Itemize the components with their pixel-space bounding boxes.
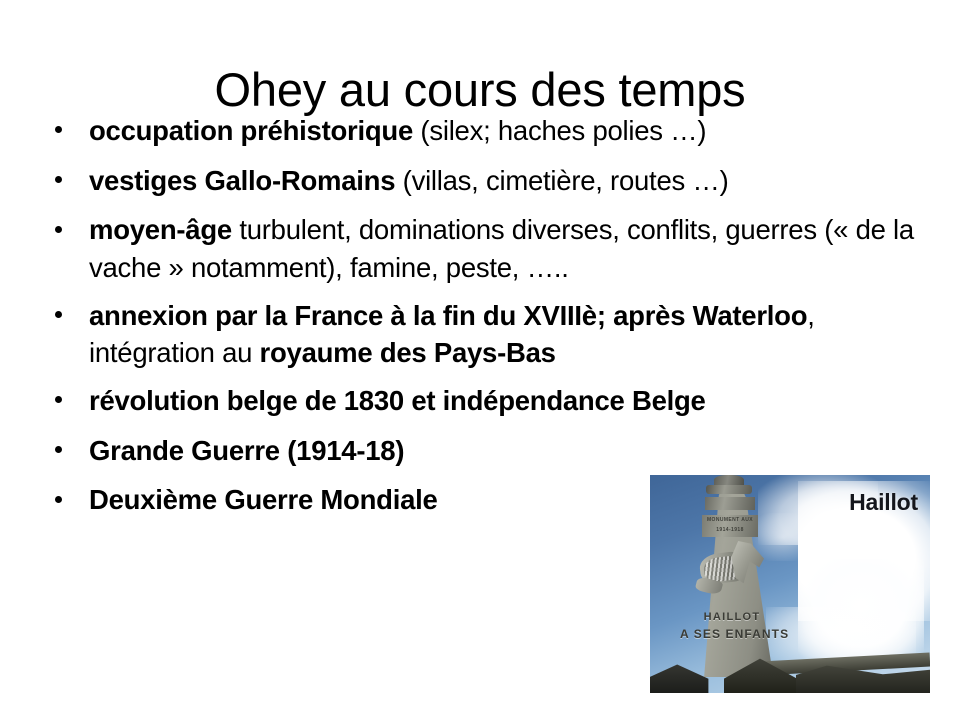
bullet-segment-regular: (silex; haches polies …) [413,115,706,146]
haillot-memorial-photo: MONUMENT AUX 1914-1918 HAILLOT A SES ENF… [650,475,930,693]
obelisk-inscription-line-2: A SES ENFANTS [680,627,784,641]
obelisk-plaque: MONUMENT AUX 1914-1918 [702,515,758,537]
bullet-dot-icon [55,446,62,453]
bullet-dot-icon [55,126,62,133]
plaque-line-1: MONUMENT AUX [702,515,758,525]
bullet-segment-bold: révolution belge de 1830 et indépendance… [89,385,706,416]
photo-caption-label: Haillot [849,489,918,516]
list-item: vestiges Gallo-Romains (villas, cimetièr… [46,162,934,200]
bullet-segment-bold: annexion par la France à la fin du XVIII… [89,300,807,331]
obelisk-collar [706,485,752,494]
list-item: annexion par la France à la fin du XVIII… [46,297,934,372]
lion-relief-icon [694,537,768,603]
bullet-dot-icon [55,396,62,403]
bullet-dot-icon [55,311,62,318]
list-item: Grande Guerre (1914-18) [46,432,934,470]
bullet-segment-bold: Grande Guerre (1914-18) [89,435,404,466]
bullet-segment-regular: (villas, cimetière, routes …) [395,165,728,196]
slide: Ohey au cours des temps occupation préhi… [0,0,960,720]
bullet-segment-bold: occupation préhistorique [89,115,413,146]
bullet-segment-bold: Deuxième Guerre Mondiale [89,484,438,515]
bullet-segment-bold: vestiges Gallo-Romains [89,165,395,196]
list-item: révolution belge de 1830 et indépendance… [46,382,934,420]
bullet-dot-icon [55,176,62,183]
bullet-segment-bold-2: royaume des Pays-Bas [260,337,556,368]
obelisk-inscription-line-1: HAILLOT [690,611,774,623]
bullet-dot-icon [55,226,62,233]
list-item: occupation préhistorique (silex; haches … [46,112,934,150]
bullet-list: occupation préhistorique (silex; haches … [46,112,934,519]
page-title: Ohey au cours des temps [0,65,960,114]
obelisk-band [705,497,755,510]
bullet-segment-bold: moyen-âge [89,214,232,245]
plaque-line-2: 1914-1918 [702,525,758,535]
list-item: moyen-âge turbulent, dominations diverse… [46,211,934,286]
bullet-dot-icon [55,496,62,503]
photo-content: MONUMENT AUX 1914-1918 HAILLOT A SES ENF… [650,475,930,693]
